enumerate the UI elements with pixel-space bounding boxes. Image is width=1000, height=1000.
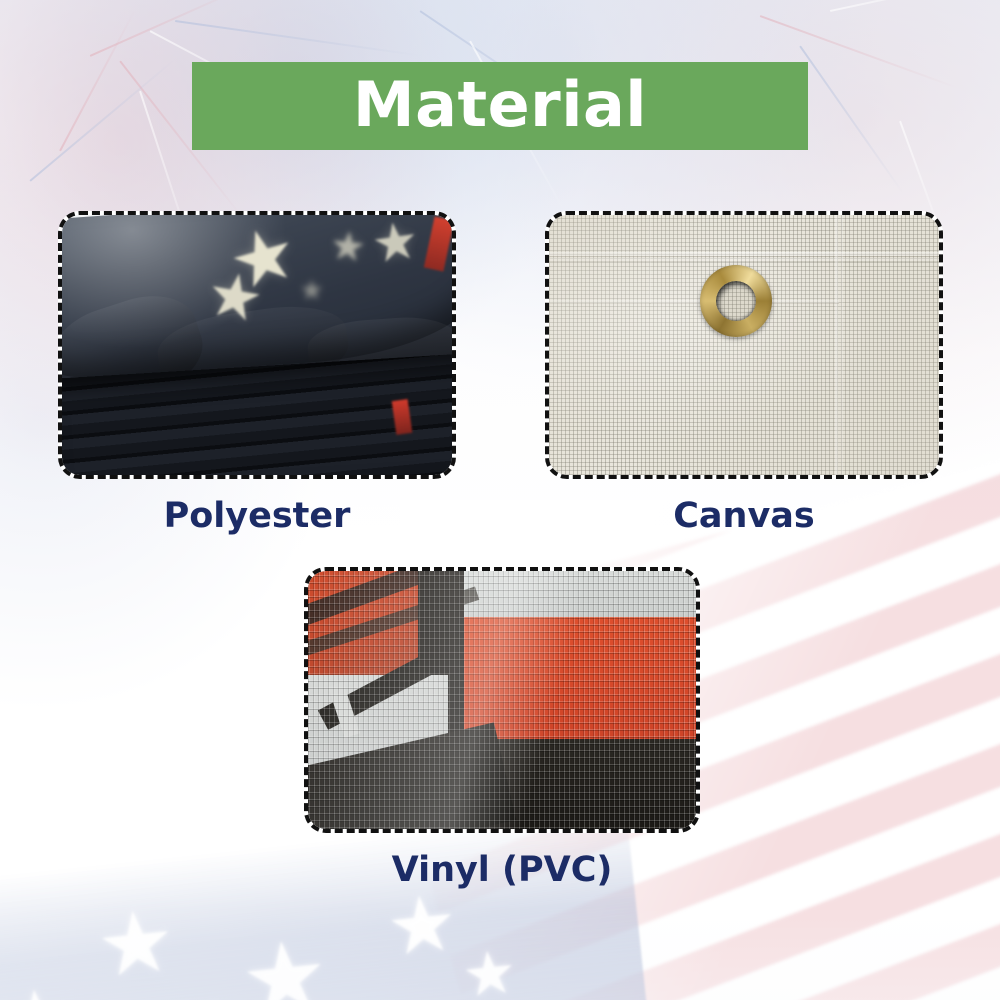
header-banner: Material <box>192 62 808 150</box>
material-card-canvas: Canvas <box>545 211 943 534</box>
material-card-vinyl: Vinyl (PVC) <box>304 567 700 888</box>
canvas-photo <box>545 211 943 479</box>
material-infographic: ★ ★ ★ ★ ★ ★ Material ★ ★ ★ ★ ★ <box>0 0 1000 1000</box>
material-card-polyester: ★ ★ ★ ★ ★ Polyester <box>58 211 456 534</box>
polyester-caption: Polyester <box>58 499 456 534</box>
polyester-photo: ★ ★ ★ ★ ★ <box>58 211 456 479</box>
vinyl-caption: Vinyl (PVC) <box>304 853 700 888</box>
grommet-icon <box>700 265 772 337</box>
vinyl-photo <box>304 567 700 833</box>
canvas-caption: Canvas <box>545 499 943 534</box>
background-bottom-fade <box>0 905 1000 1000</box>
page-title: Material <box>353 74 647 136</box>
